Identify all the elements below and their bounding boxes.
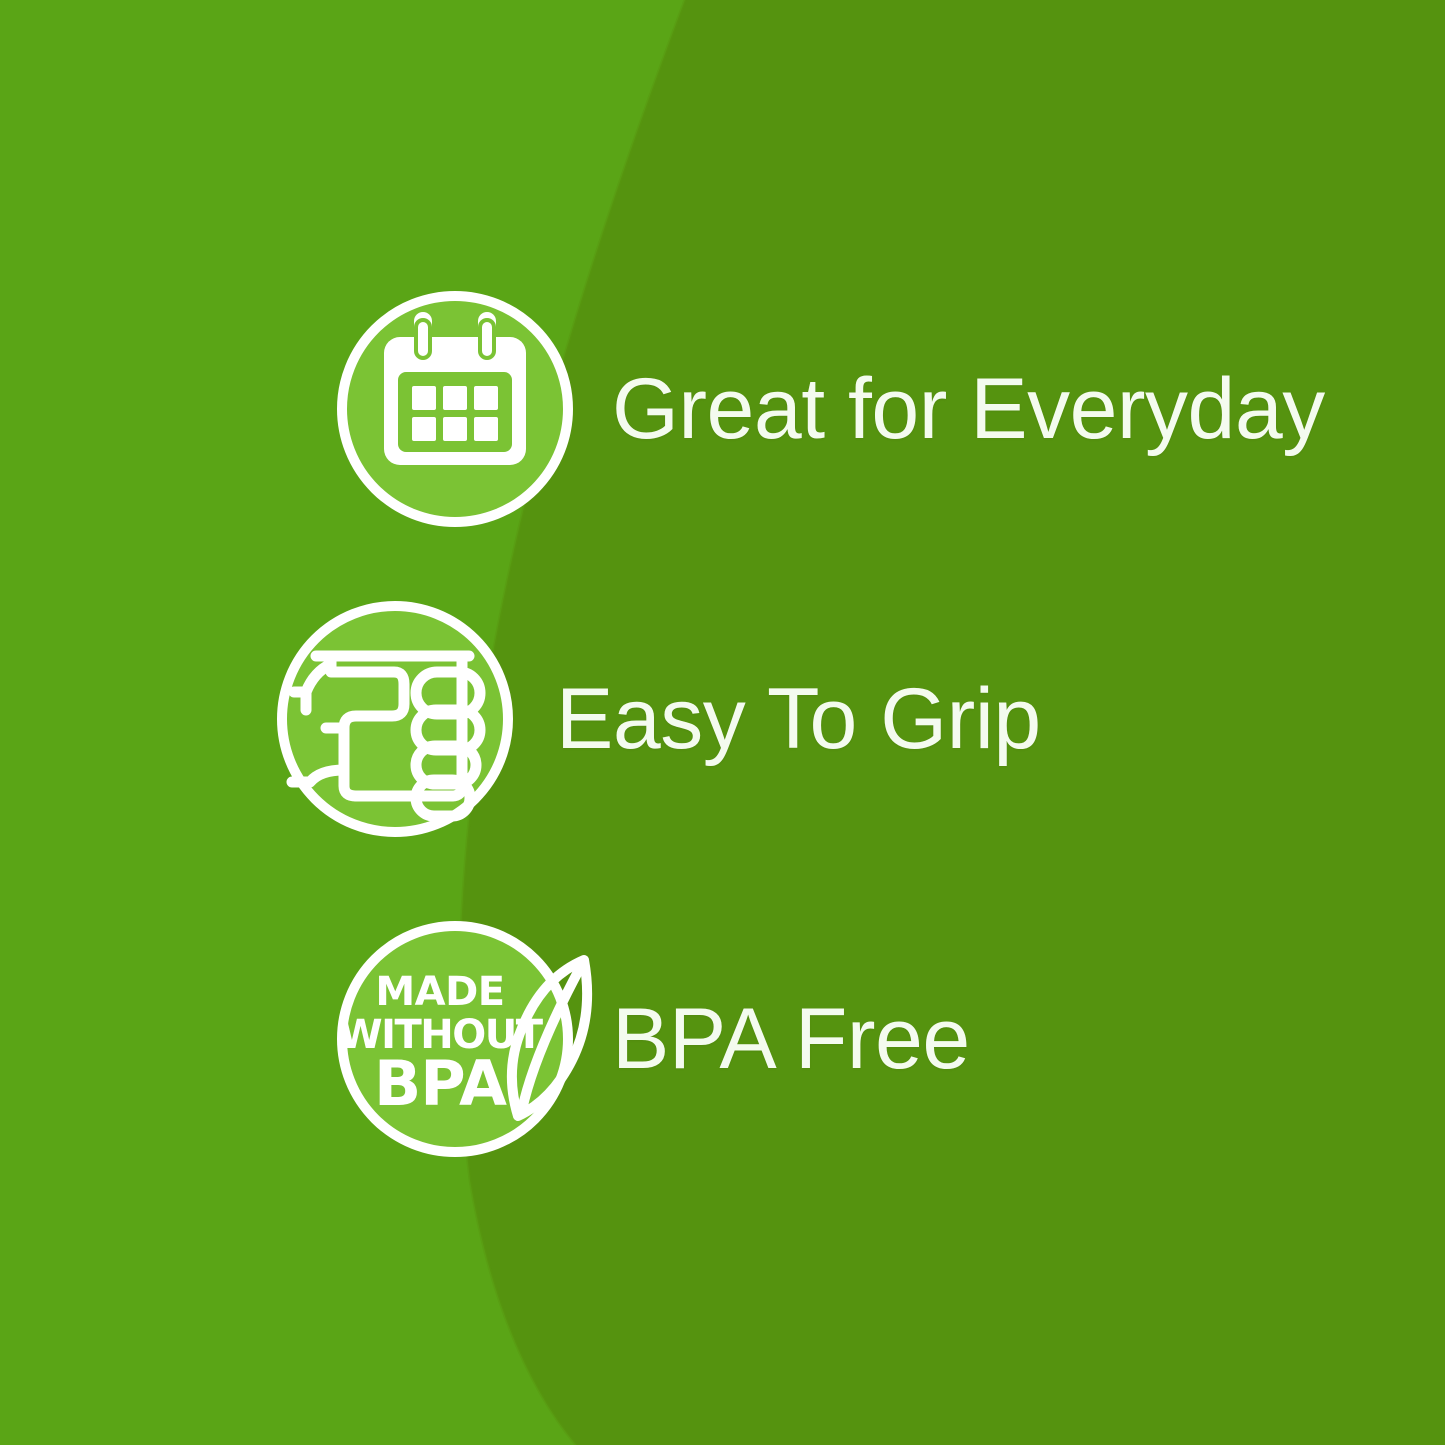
calendar-cell <box>412 386 436 410</box>
badge-line-made: MADE <box>375 969 504 1015</box>
calendar-cell <box>474 417 498 441</box>
feature-row-easy-to-grip: Easy To Grip <box>276 600 1041 838</box>
badge-easy-to-grip <box>276 600 514 838</box>
feature-highlight-graphic: Great for Everyday <box>0 0 1445 1445</box>
calendar-ring-left-core <box>418 322 428 356</box>
hand-grip-icon <box>276 600 514 838</box>
badge-bpa-free: MADE WITHOUT BPA <box>336 920 574 1158</box>
calendar-cell <box>412 417 436 441</box>
calendar-icon <box>336 290 574 528</box>
made-without-bpa-icon: MADE WITHOUT BPA <box>336 920 574 1158</box>
calendar-cell <box>443 417 467 441</box>
feature-label-great-for-everyday: Great for Everyday <box>612 366 1325 452</box>
badge-line-bpa: BPA <box>374 1047 507 1120</box>
feature-row-great-for-everyday: Great for Everyday <box>336 290 1325 528</box>
calendar-cell <box>443 386 467 410</box>
feature-label-easy-to-grip: Easy To Grip <box>556 676 1041 762</box>
feature-row-bpa-free: MADE WITHOUT BPA BPA Free <box>336 920 970 1158</box>
badge-great-for-everyday <box>336 290 574 528</box>
calendar-cell <box>474 386 498 410</box>
feature-label-bpa-free: BPA Free <box>612 996 970 1082</box>
calendar-ring-right-core <box>482 322 492 356</box>
